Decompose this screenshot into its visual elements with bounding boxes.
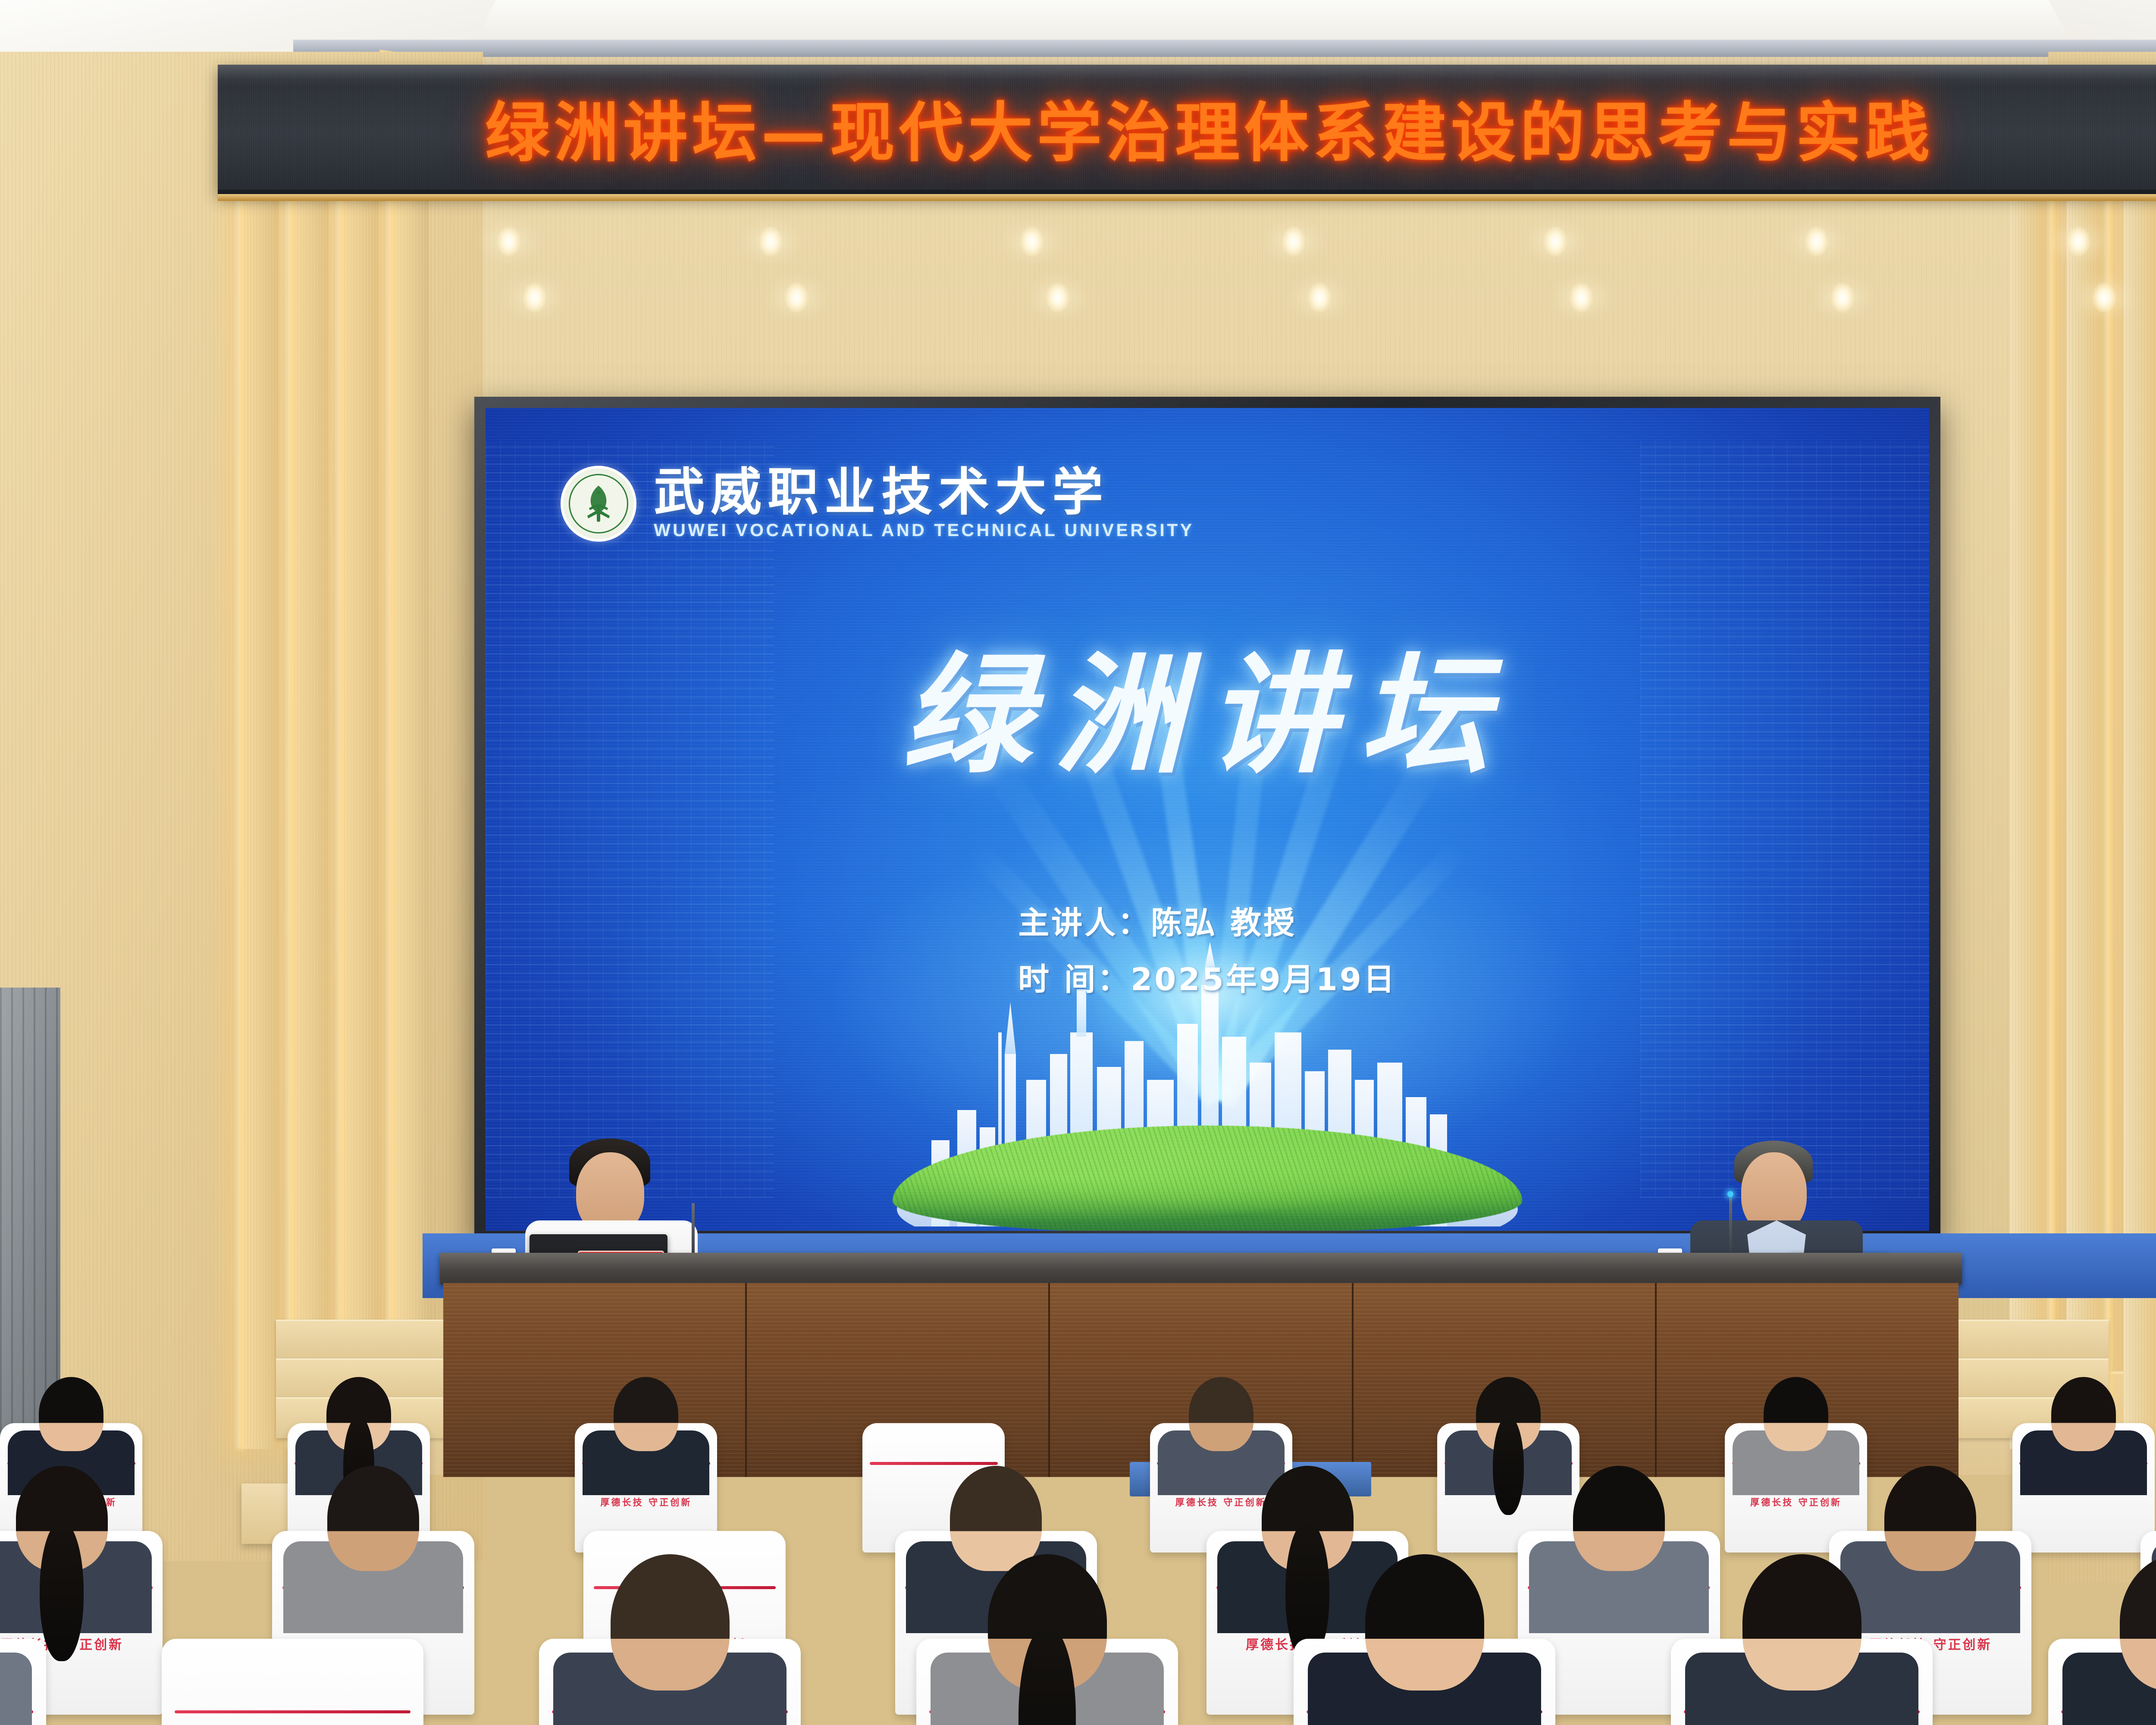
audience-member-head <box>1573 1466 1665 1571</box>
downlight-icon <box>1805 227 1828 256</box>
downlight-icon <box>785 283 808 312</box>
audience-member-head <box>1742 1554 1861 1690</box>
pillar-accent-light <box>285 129 297 1449</box>
audience-member-shoulders <box>0 1653 32 1725</box>
audience-member-head <box>327 1466 419 1571</box>
screen-logo-en: WUWEI VOCATIONAL AND TECHNICAL UNIVERSIT… <box>654 520 1194 540</box>
audience-chair[interactable] <box>162 1639 423 1725</box>
downlight-icon <box>2093 283 2115 312</box>
downlight-icon <box>2067 227 2090 256</box>
led-screen-bezel: 武威职业技术大学 WUWEI VOCATIONAL AND TECHNICAL … <box>474 397 1940 1242</box>
audience-seating: 厚德长技 守正创新厚德长技 守正创新厚德长技 守正创新厚德长技 守正创新厚德长技… <box>0 1371 2156 1725</box>
pillar-accent-light <box>385 129 397 1449</box>
pillar-group-left <box>241 129 444 1449</box>
audience-member-head <box>614 1377 678 1451</box>
wall-slat-pillar <box>291 129 329 1449</box>
chair-motto-text: 厚德长技 守正创新 <box>1725 1496 1867 1509</box>
wall-slat-pillar <box>241 129 279 1449</box>
downlight-icon <box>523 283 546 312</box>
banner-gold-trim <box>218 194 2156 201</box>
chair-piping <box>870 1462 998 1465</box>
downlight-icon <box>1282 227 1305 256</box>
university-seal-icon <box>561 466 636 542</box>
screen-main-title: 绿洲讲坛 <box>902 611 1513 798</box>
ceiling-metal-band <box>293 40 2156 57</box>
auditorium-scene: 绿洲讲坛—现代大学治理体系建设的思考与实践 <box>0 0 2156 1725</box>
screen-meta-block: 主讲人：陈弘 教授 时 间：2025年9月19日 <box>1018 897 1397 999</box>
audience-member-head <box>1189 1377 1253 1451</box>
screen-university-logo: 武威职业技术大学 WUWEI VOCATIONAL AND TECHNICAL … <box>561 466 1194 542</box>
audience-member-head <box>1764 1377 1828 1451</box>
audience-member-head <box>1365 1554 1484 1690</box>
audience-member-head <box>2051 1377 2116 1451</box>
downlight-icon <box>1544 227 1567 256</box>
screen-meta-speaker: 主讲人：陈弘 教授 <box>1018 897 1297 943</box>
screen-logo-cn: 武威职业技术大学 <box>654 467 1194 517</box>
led-screen: 武威职业技术大学 WUWEI VOCATIONAL AND TECHNICAL … <box>486 408 1929 1231</box>
downlight-icon <box>1308 283 1331 312</box>
downlight-icon <box>1047 283 1069 312</box>
audience-member-head <box>950 1466 1042 1571</box>
audience-member-head <box>611 1554 730 1690</box>
downlight-icon <box>1021 227 1043 256</box>
speaker-right-mic-led <box>1727 1191 1733 1197</box>
downlight-icon <box>759 227 782 256</box>
chair-piping <box>175 1710 410 1713</box>
audience-member-ponytail <box>40 1521 84 1662</box>
downlight-icon <box>1570 283 1592 312</box>
pillar-accent-light <box>235 129 247 1449</box>
wall-slat-pillar <box>342 129 379 1449</box>
screen-meta-date: 时 间：2025年9月19日 <box>1018 954 1397 999</box>
seal-tree-icon <box>574 480 623 528</box>
pillar-accent-light <box>335 129 347 1449</box>
led-banner: 绿洲讲坛—现代大学治理体系建设的思考与实践 <box>218 65 2156 194</box>
audience-member-head <box>1884 1466 1976 1571</box>
podium-tabletop <box>440 1253 1962 1285</box>
chair-motto-text: 厚德长技 守正创新 <box>575 1496 717 1509</box>
downlight-icon <box>1831 283 1854 312</box>
audience-member-head <box>39 1377 103 1451</box>
audience-member-ponytail <box>1493 1416 1524 1515</box>
led-banner-text: 绿洲讲坛—现代大学治理体系建设的思考与实践 <box>485 81 1934 174</box>
downlight-icon <box>498 227 520 256</box>
